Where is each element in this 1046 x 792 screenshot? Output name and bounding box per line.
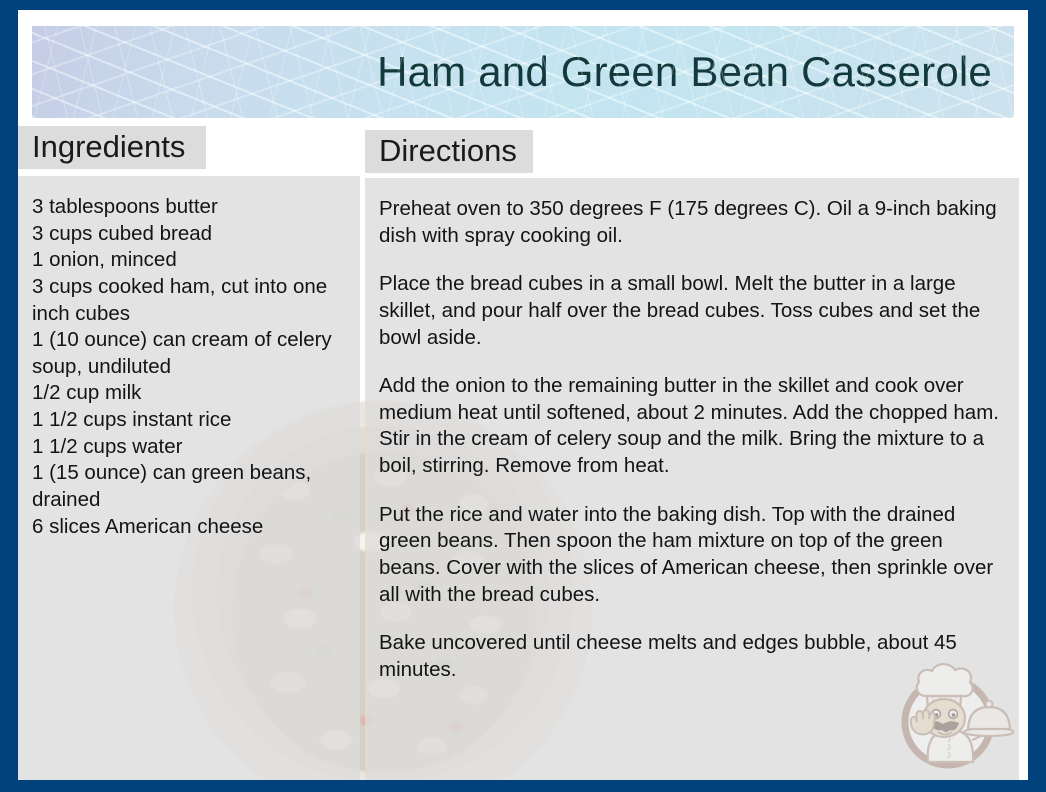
directions-column: Directions Preheat oven to 350 degrees F… (365, 130, 1019, 706)
directions-body: Preheat oven to 350 degrees F (175 degre… (365, 130, 1019, 684)
page-title: Ham and Green Bean Casserole (377, 48, 992, 96)
list-item: 1 1/2 cups water (32, 434, 344, 461)
ingredients-list: 3 tablespoons butter 3 cups cubed bread … (32, 194, 344, 540)
list-item: 3 tablespoons butter (32, 194, 344, 221)
list-item: Bake uncovered until cheese melts and ed… (379, 630, 1003, 683)
list-item: 1/2 cup milk (32, 380, 344, 407)
list-item: 3 cups cubed bread (32, 221, 344, 248)
ingredients-body: 3 tablespoons butter 3 cups cubed bread … (18, 126, 360, 540)
slide-page: Ham and Green Bean Casserole Ingredients… (18, 10, 1028, 780)
list-item: 1 1/2 cups instant rice (32, 407, 344, 434)
list-item: Preheat oven to 350 degrees F (175 degre… (379, 196, 1003, 249)
recipe-slide: Ham and Green Bean Casserole Ingredients… (0, 0, 1046, 792)
directions-list: Preheat oven to 350 degrees F (175 degre… (379, 196, 1003, 684)
list-item: Put the rice and water into the baking d… (379, 502, 1003, 609)
list-item: Place the bread cubes in a small bowl. M… (379, 271, 1003, 351)
list-item: Add the onion to the remaining butter in… (379, 373, 1003, 480)
list-item: 3 cups cooked ham, cut into one inch cub… (32, 274, 344, 327)
list-item: 1 (10 ounce) can cream of celery soup, u… (32, 327, 344, 380)
title-banner: Ham and Green Bean Casserole (32, 26, 1014, 118)
list-item: 6 slices American cheese (32, 514, 344, 541)
ingredients-column: Ingredients 3 tablespoons butter 3 cups … (18, 126, 360, 540)
list-item: 1 (15 ounce) can green beans, drained (32, 460, 344, 513)
list-item: 1 onion, minced (32, 247, 344, 274)
